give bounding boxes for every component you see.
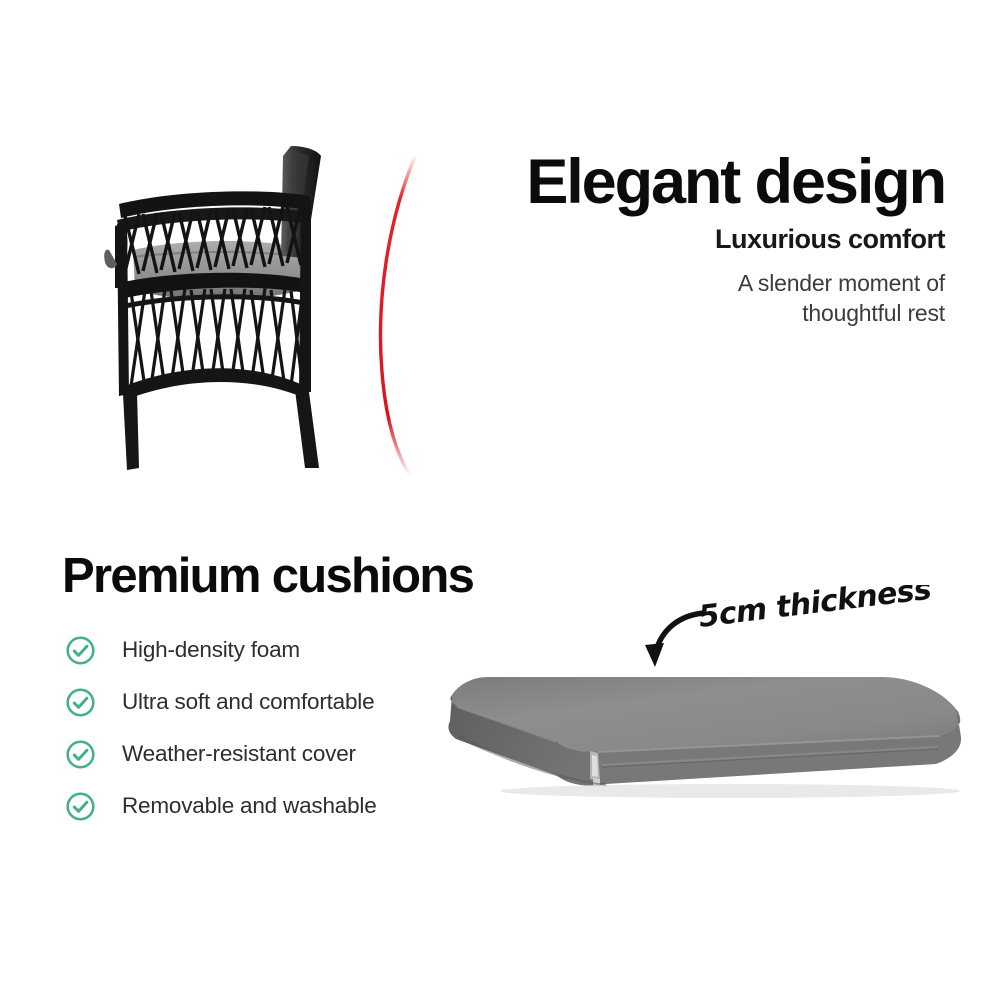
red-swoosh-accent: [370, 150, 430, 480]
product-feature-panel: Elegant design Luxurious comfort A slend…: [0, 0, 1000, 1000]
list-item: Ultra soft and comfortable: [62, 676, 482, 728]
chair-product-image: [95, 138, 395, 478]
thickness-callout: 5cm thickness: [618, 585, 963, 700]
check-circle-icon: [65, 739, 96, 770]
check-circle-icon: [65, 791, 96, 822]
section-title: Premium cushions: [62, 552, 482, 601]
feature-label: Weather-resistant cover: [122, 741, 356, 767]
thickness-label: 5cm thickness: [697, 585, 933, 635]
list-item: High-density foam: [62, 624, 482, 676]
tagline-line-2: thoughtful rest: [425, 299, 945, 328]
headline-block: Elegant design Luxurious comfort A slend…: [425, 150, 945, 328]
feature-list: High-density foam Ultra soft and comfort…: [62, 624, 482, 832]
check-circle-icon: [65, 687, 96, 718]
curved-arrow-down-left: [645, 613, 704, 667]
page-title: Elegant design: [425, 150, 945, 214]
list-item: Removable and washable: [62, 780, 482, 832]
feature-label: Ultra soft and comfortable: [122, 689, 374, 715]
subheading: Luxurious comfort: [425, 224, 945, 255]
list-item: Weather-resistant cover: [62, 728, 482, 780]
feature-label: Removable and washable: [122, 793, 377, 819]
tagline: A slender moment of thoughtful rest: [425, 269, 945, 328]
features-block: Premium cushions High-density foam: [62, 552, 482, 848]
tagline-line-1: A slender moment of: [425, 269, 945, 298]
check-circle-icon: [65, 635, 96, 666]
feature-label: High-density foam: [122, 637, 300, 663]
